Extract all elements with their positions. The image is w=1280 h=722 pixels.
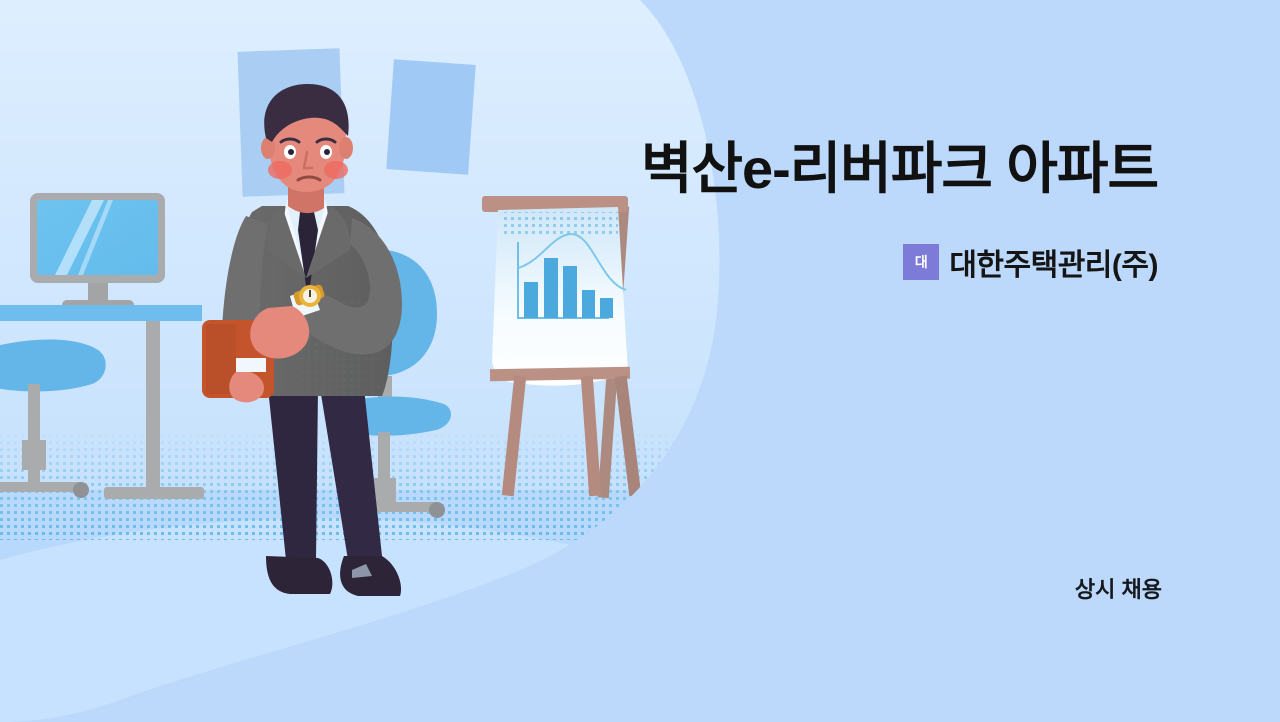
office-illustration <box>0 0 1280 722</box>
left-shoe <box>266 556 332 594</box>
wall-poster-right <box>386 59 475 174</box>
job-posting-poster: 벽산e-리버파크 아파트 대 대한주택관리(주) 상시 채용 <box>0 0 1280 722</box>
